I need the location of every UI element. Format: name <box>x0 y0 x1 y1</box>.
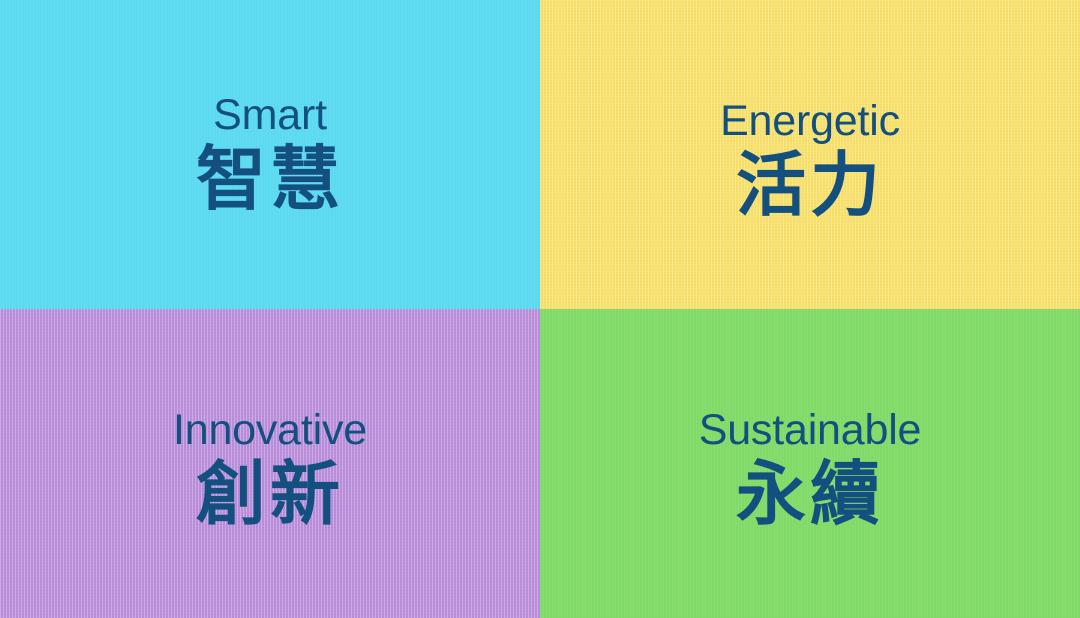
label-en-energetic: Energetic <box>720 100 900 143</box>
quadrant-sustainable[interactable]: Sustainable 永續 <box>540 309 1080 618</box>
label-zh-innovative: 創新 <box>196 458 344 532</box>
quadrant-energetic[interactable]: Energetic 活力 <box>540 0 1080 309</box>
quadrant-grid: Smart 智慧 Energetic 活力 Innovative 創新 Sust… <box>0 0 1080 618</box>
quadrant-smart[interactable]: Smart 智慧 <box>0 0 540 309</box>
brand-values-canvas: Smart 智慧 Energetic 活力 Innovative 創新 Sust… <box>0 0 1080 618</box>
label-block-innovative: Innovative 創新 <box>0 309 540 532</box>
label-zh-energetic: 活力 <box>736 149 884 223</box>
label-zh-smart: 智慧 <box>196 143 344 217</box>
quadrant-innovative[interactable]: Innovative 創新 <box>0 309 540 618</box>
label-block-energetic: Energetic 活力 <box>540 0 1080 223</box>
label-block-sustainable: Sustainable 永續 <box>540 309 1080 532</box>
label-block-smart: Smart 智慧 <box>0 0 540 217</box>
label-en-sustainable: Sustainable <box>699 409 922 452</box>
label-en-smart: Smart <box>213 94 327 137</box>
label-en-innovative: Innovative <box>173 409 367 452</box>
label-zh-sustainable: 永續 <box>736 458 884 532</box>
